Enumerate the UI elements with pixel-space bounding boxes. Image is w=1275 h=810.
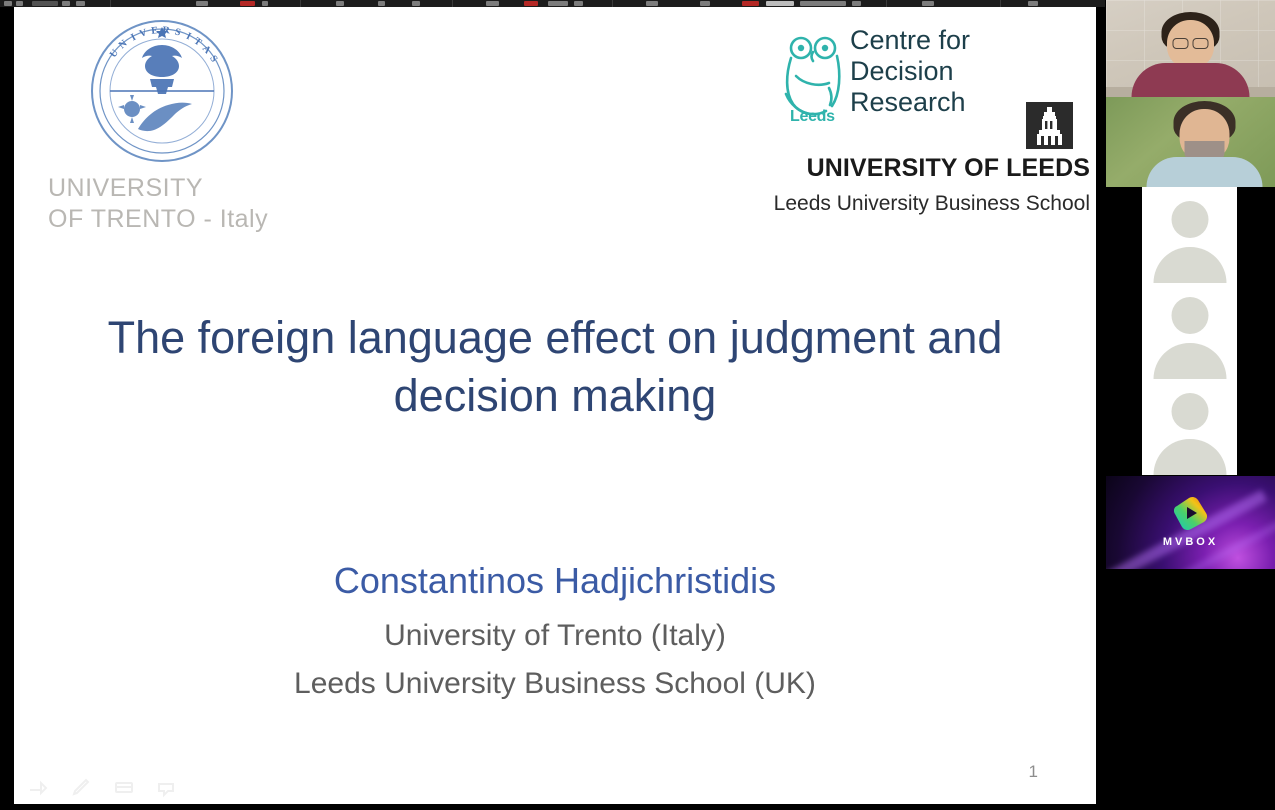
- affiliation-secondary: Leeds University Business School (UK): [74, 667, 1036, 701]
- slide-number: 1: [1029, 762, 1038, 782]
- trento-wordmark: UNIVERSITY OF TRENTO - Italy: [48, 173, 298, 235]
- presentation-slide: U N I V E R S I T A S A T H E S I: [14, 7, 1096, 804]
- leeds-logo-block: Leeds Centre for Decision Research: [764, 29, 1094, 234]
- mvbox-label: MVBOX: [1106, 536, 1275, 548]
- rail-empty-area: [1106, 569, 1275, 810]
- pen-tool-icon[interactable]: [69, 776, 93, 798]
- screen-root: U N I V E R S I T A S A T H E S I: [0, 0, 1275, 810]
- participant-2-figure: [1120, 97, 1275, 187]
- slide-title: The foreign language effect on judgment …: [74, 309, 1036, 424]
- avatar-body-icon: [1153, 247, 1226, 283]
- avatar-head-icon: [1171, 297, 1208, 334]
- participant-video-2[interactable]: [1106, 97, 1275, 187]
- svg-text:S: S: [174, 27, 183, 39]
- laser-pointer-tool-icon[interactable]: [155, 776, 179, 798]
- trento-wordmark-line1: UNIVERSITY: [48, 173, 298, 204]
- participant-mvbox[interactable]: MVBOX: [1106, 476, 1275, 569]
- affiliation-primary: University of Trento (Italy): [74, 619, 1036, 653]
- svg-text:I: I: [129, 32, 138, 44]
- leeds-business-school-label: Leeds University Business School: [760, 192, 1090, 216]
- trento-wordmark-line2: OF TRENTO - Italy: [48, 204, 298, 235]
- owl-leeds-label: Leeds: [790, 108, 835, 126]
- avatar-body-icon: [1153, 343, 1226, 379]
- university-of-leeds-wordmark: UNIVERSITY OF LEEDS: [760, 154, 1090, 183]
- participant-1-figure: [1106, 0, 1275, 97]
- cdr-line-1: Centre for: [850, 25, 970, 56]
- cdr-wordmark: Centre for Decision Research: [850, 25, 970, 117]
- participant-avatar-3[interactable]: [1142, 379, 1237, 475]
- avatar-body-icon: [1153, 439, 1226, 475]
- mvbox-logo-icon: [1173, 496, 1209, 530]
- video-participant-rail[interactable]: MVBOX: [1106, 0, 1275, 810]
- participant-avatar-2[interactable]: [1142, 283, 1237, 379]
- avatar-placeholder-group[interactable]: [1106, 187, 1275, 476]
- cdr-line-3: Research: [850, 87, 970, 118]
- avatar-head-icon: [1171, 393, 1208, 430]
- trento-seal-icon: U N I V E R S I T A S A T H E S I: [88, 17, 236, 165]
- participant-video-1[interactable]: [1106, 0, 1275, 97]
- pointer-tool-icon[interactable]: [26, 776, 50, 798]
- svg-text:V: V: [138, 27, 149, 40]
- university-of-trento-logo: U N I V E R S I T A S A T H E S I: [30, 17, 310, 232]
- slides-tool-icon[interactable]: [112, 776, 136, 798]
- application-toolbar[interactable]: [0, 0, 1105, 7]
- presenter-toolbar[interactable]: [26, 776, 179, 798]
- author-name: Constantinos Hadjichristidis: [74, 560, 1036, 602]
- participant-avatar-1[interactable]: [1142, 187, 1237, 283]
- leeds-crest-icon: [1026, 102, 1073, 149]
- cdr-line-2: Decision: [850, 56, 970, 87]
- svg-text:A: A: [200, 43, 214, 56]
- svg-text:E: E: [151, 25, 159, 37]
- avatar-head-icon: [1171, 201, 1208, 238]
